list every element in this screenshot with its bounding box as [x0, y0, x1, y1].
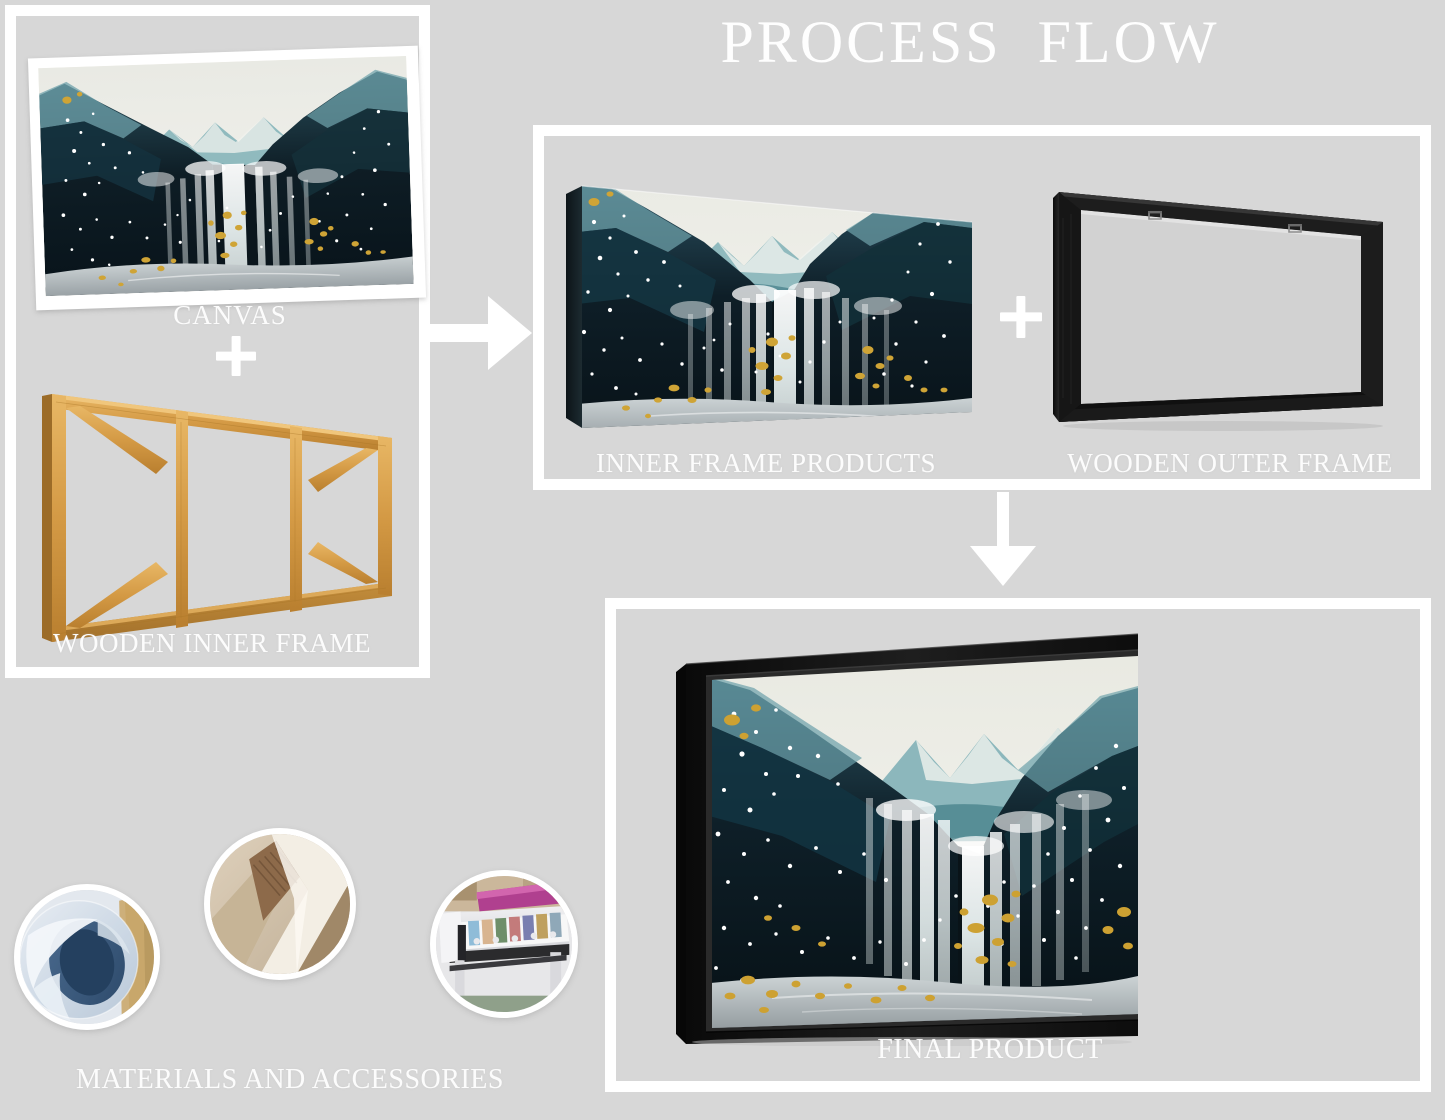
page-title: PROCESS FLOW	[620, 8, 1320, 77]
material-circle-large-format-printer	[430, 870, 578, 1018]
canvas-artwork-card	[28, 46, 426, 311]
plus-operator-left	[216, 336, 256, 376]
material-circle-cardboard-packing	[204, 828, 356, 980]
label-wooden-inner-frame: WOODEN INNER FRAME	[42, 628, 382, 659]
label-final-product: FINAL PRODUCT	[790, 1034, 1190, 1066]
label-wooden-outer-frame: WOODEN OUTER FRAME	[1030, 448, 1430, 479]
inner-frame-product-image	[560, 160, 972, 440]
material-circle-canvas-roll	[14, 884, 160, 1030]
label-canvas: CANVAS	[120, 300, 340, 331]
arrow-right-icon	[427, 296, 532, 370]
process-flow-diagram: PROCESS FLOW	[0, 0, 1445, 1120]
plus-operator-center	[1000, 296, 1042, 338]
label-materials-and-accessories: MATERIALS AND ACCESSORIES	[30, 1064, 550, 1096]
wooden-inner-frame-image	[36, 382, 418, 650]
final-product-image	[672, 628, 1138, 1046]
label-inner-frame-products: INNER FRAME PRODUCTS	[560, 448, 972, 479]
wooden-outer-frame-image	[1053, 178, 1398, 433]
arrow-down-icon	[970, 492, 1036, 586]
canvas-painting	[38, 56, 413, 296]
